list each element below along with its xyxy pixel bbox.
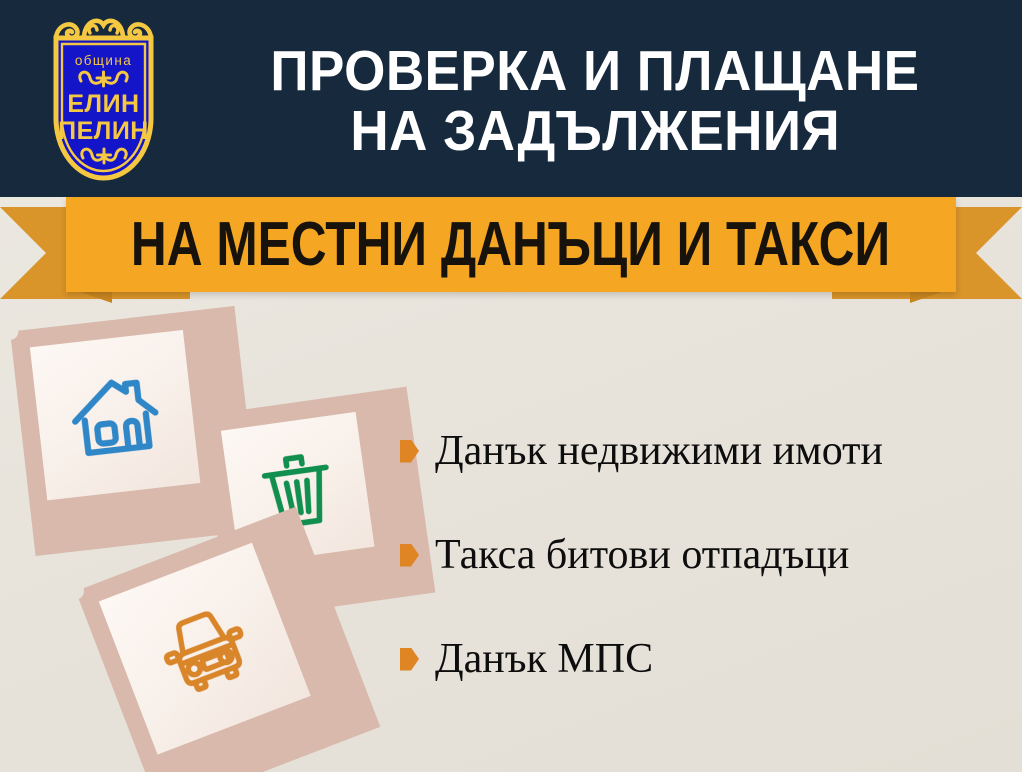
crest-label-line2: ПЕЛИН	[58, 117, 149, 145]
crest-label-top: община	[75, 53, 132, 68]
title-line-1: ПРОВЕРКА И ПЛАЩАНЕ	[270, 41, 919, 101]
crest-svg: община ЕЛИН ПЕЛИН	[26, 8, 181, 190]
municipality-crest: община ЕЛИН ПЕЛИН	[26, 8, 181, 190]
ribbon-label: НА МЕСТНИ ДАНЪЦИ И ТАКСИ	[131, 214, 890, 276]
list-item: Такса битови отпадъци	[400, 534, 1010, 576]
crest-label-line1: ЕЛИН	[67, 90, 139, 118]
list-item-label: Данък МПС	[435, 638, 653, 680]
ribbon-main-panel: НА МЕСТНИ ДАНЪЦИ И ТАКСИ	[66, 197, 956, 292]
poster-title: ПРОВЕРКА И ПЛАЩАНЕ НА ЗАДЪЛЖЕНИЯ	[185, 16, 1005, 186]
bullet-arrow-icon	[400, 440, 419, 463]
stamp-inner-house	[30, 330, 200, 500]
poster-canvas: община ЕЛИН ПЕЛИН ПРОВЕРКА И ПЛАЩАНЕ	[0, 0, 1022, 772]
header-bar: община ЕЛИН ПЕЛИН ПРОВЕРКА И ПЛАЩАНЕ	[0, 0, 1022, 197]
title-line-2: НА ЗАДЪЛЖЕНИЯ	[350, 101, 840, 161]
list-item-label: Данък недвижими имоти	[435, 430, 883, 472]
car-icon	[140, 584, 269, 713]
list-item: Данък недвижими имоти	[400, 430, 1010, 472]
list-item: Данък МПС	[400, 638, 1010, 680]
bullet-arrow-icon	[400, 648, 419, 671]
bullet-arrow-icon	[400, 544, 419, 567]
tax-type-list: Данък недвижими имоти Такса битови отпад…	[400, 430, 1010, 680]
house-icon	[62, 362, 168, 468]
list-item-label: Такса битови отпадъци	[435, 534, 849, 576]
ribbon-banner: НА МЕСТНИ ДАНЪЦИ И ТАКСИ	[0, 197, 1022, 307]
